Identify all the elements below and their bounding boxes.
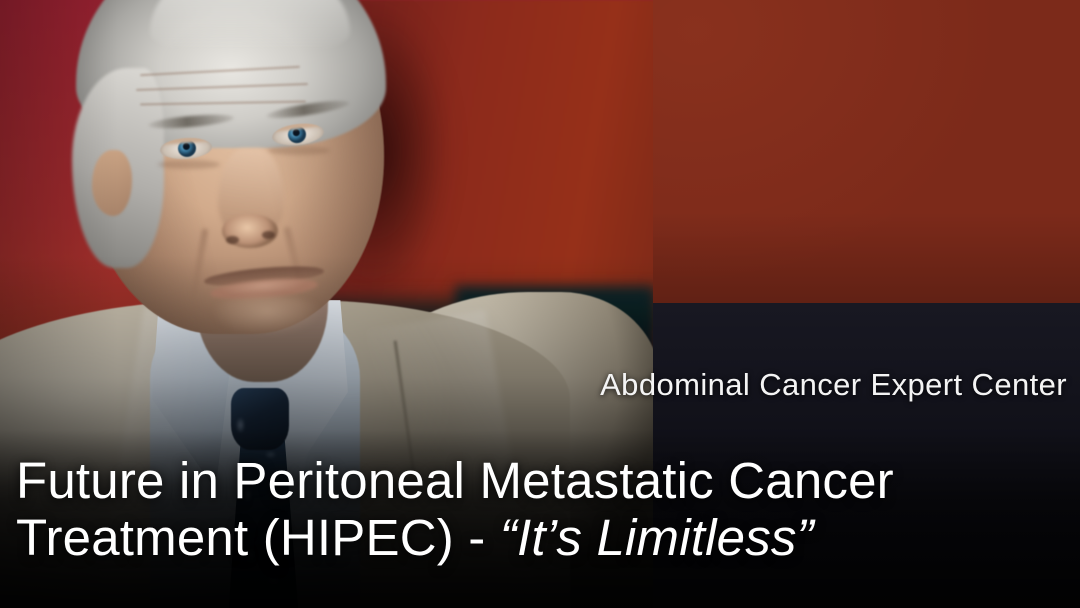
video-title-quote: “It’s Limitless” [500, 509, 814, 566]
chin [196, 296, 338, 348]
ear [92, 150, 132, 216]
nostril-left [226, 236, 239, 244]
video-title-line-2: Treatment (HIPEC) - “It’s Limitless” [16, 509, 1068, 566]
video-title-line-1: Future in Peritoneal Metastatic Cancer [16, 452, 1068, 509]
under-eye-right [268, 146, 330, 155]
video-title: Future in Peritoneal Metastatic Cancer T… [16, 452, 1068, 566]
under-eye-left [158, 160, 220, 169]
hair-highlight [150, 0, 350, 50]
red-color-panel [653, 0, 1080, 303]
channel-subtitle: Abdominal Cancer Expert Center [600, 367, 1067, 403]
video-title-card: Abdominal Cancer Expert Center Future in… [0, 0, 1080, 608]
video-title-line-2-prefix: Treatment (HIPEC) - [16, 509, 500, 566]
nostril-right [262, 231, 275, 239]
